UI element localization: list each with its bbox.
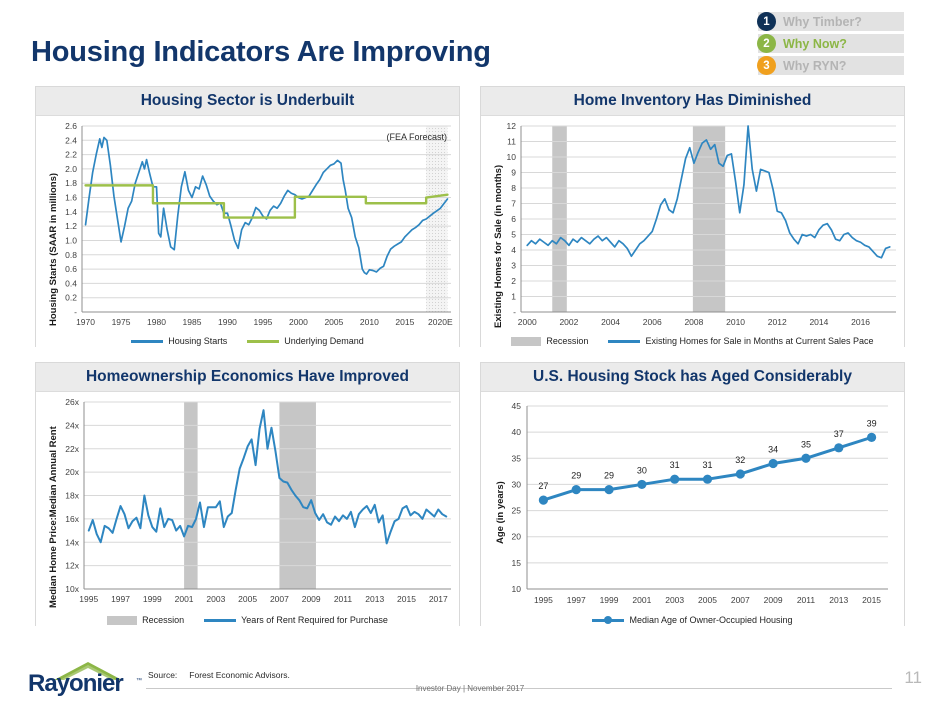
svg-text:2005: 2005	[698, 595, 717, 605]
svg-text:1975: 1975	[112, 317, 131, 327]
svg-text:2013: 2013	[365, 594, 384, 604]
svg-text:9: 9	[511, 168, 516, 178]
nav-label-why-ryn: Why RYN?	[783, 59, 846, 73]
svg-text:2016: 2016	[851, 317, 870, 327]
legend-label-existing-homes: Existing Homes for Sale in Months at Cur…	[645, 336, 873, 346]
svg-text:2013: 2013	[829, 595, 848, 605]
svg-text:31: 31	[702, 460, 712, 470]
section-nav: 1 Why Timber? 2 Why Now? 3 Why RYN?	[758, 12, 904, 78]
nav-badge-1: 1	[757, 12, 776, 31]
svg-text:1995: 1995	[79, 594, 98, 604]
chart-legend-underbuilt: Housing Starts Underlying Demand	[36, 336, 459, 346]
svg-text:2006: 2006	[643, 317, 662, 327]
svg-text:0.8: 0.8	[65, 250, 77, 260]
line-swatch-icon	[204, 619, 236, 622]
legend-label-recession: Recession	[142, 615, 184, 625]
chart-title-homeownership: Homeownership Economics Have Improved	[86, 368, 409, 386]
svg-text:2009: 2009	[764, 595, 783, 605]
svg-text:1999: 1999	[143, 594, 162, 604]
legend-label-years-of-rent: Years of Rent Required for Purchase	[241, 615, 388, 625]
svg-text:1995: 1995	[253, 317, 272, 327]
line-swatch-icon	[608, 340, 640, 343]
band-swatch-icon	[511, 337, 541, 346]
svg-text:1990: 1990	[218, 317, 237, 327]
svg-text:-: -	[513, 307, 516, 317]
chart-body-inventory: Existing Homes for Sale (in months) -123…	[481, 116, 904, 348]
svg-text:1980: 1980	[147, 317, 166, 327]
legend-item-housing-starts[interactable]: Housing Starts	[131, 336, 227, 346]
chart-body-homeownership: Median Home Price:Median Annual Rent 10x…	[36, 392, 459, 627]
nav-badge-2: 2	[757, 34, 776, 53]
svg-text:37: 37	[834, 429, 844, 439]
chart-legend-housing-stock: Median Age of Owner-Occupied Housing	[481, 615, 904, 625]
legend-label-median-age: Median Age of Owner-Occupied Housing	[629, 615, 792, 625]
svg-text:2015: 2015	[397, 594, 416, 604]
chart-canvas-inventory: -123456789101112200020022004200620082010…	[481, 116, 906, 348]
chart-header-inventory: Home Inventory Has Diminished	[481, 87, 904, 116]
chart-legend-inventory: Recession Existing Homes for Sale in Mon…	[481, 336, 904, 346]
svg-text:1970: 1970	[76, 317, 95, 327]
svg-text:0.6: 0.6	[65, 264, 77, 274]
svg-text:10: 10	[507, 152, 517, 162]
svg-text:2003: 2003	[206, 594, 225, 604]
line-swatch-icon	[131, 340, 163, 343]
chart-canvas-housing-stock: 1015202530354045271995291997291999302001…	[481, 392, 906, 627]
svg-text:2015: 2015	[862, 595, 881, 605]
chart-canvas-homeownership: 10x12x14x16x18x20x22x24x26x1995199719992…	[36, 392, 461, 627]
chart-header-housing-stock: U.S. Housing Stock has Aged Considerably	[481, 363, 904, 392]
legend-label-underlying-demand: Underlying Demand	[284, 336, 364, 346]
svg-text:2005: 2005	[238, 594, 257, 604]
svg-text:18x: 18x	[65, 491, 79, 501]
nav-item-why-timber[interactable]: 1 Why Timber?	[758, 12, 904, 31]
svg-text:3: 3	[511, 261, 516, 271]
band-swatch-icon	[107, 616, 137, 625]
svg-text:0.2: 0.2	[65, 293, 77, 303]
chart-title-underbuilt: Housing Sector is Underbuilt	[141, 92, 355, 110]
svg-text:2.0: 2.0	[65, 164, 77, 174]
forecast-annotation: (FEA Forecast)	[386, 132, 447, 142]
svg-text:8: 8	[511, 183, 516, 193]
svg-text:40: 40	[512, 427, 522, 437]
chart-body-underbuilt: Housing Starts (SAAR in millions) -0.20.…	[36, 116, 459, 348]
chart-header-underbuilt: Housing Sector is Underbuilt	[36, 87, 459, 116]
svg-text:32: 32	[735, 455, 745, 465]
svg-text:2011: 2011	[334, 594, 353, 604]
marker-line-swatch-icon	[592, 619, 624, 622]
svg-text:2.6: 2.6	[65, 121, 77, 131]
nav-label-why-timber: Why Timber?	[783, 15, 862, 29]
nav-item-why-now[interactable]: 2 Why Now?	[758, 34, 904, 53]
slide-root: Housing Indicators Are Improving 1 Why T…	[0, 0, 940, 705]
svg-text:1: 1	[511, 292, 516, 302]
svg-text:6: 6	[511, 214, 516, 224]
svg-text:45: 45	[512, 401, 522, 411]
svg-text:30: 30	[512, 479, 522, 489]
svg-text:25: 25	[512, 506, 522, 516]
svg-text:2010: 2010	[360, 317, 379, 327]
svg-text:2.2: 2.2	[65, 150, 77, 160]
svg-text:29: 29	[604, 471, 614, 481]
svg-text:2005: 2005	[324, 317, 343, 327]
svg-text:11: 11	[507, 137, 516, 147]
legend-item-existing-homes[interactable]: Existing Homes for Sale in Months at Cur…	[608, 336, 873, 346]
svg-text:2007: 2007	[731, 595, 750, 605]
page-title: Housing Indicators Are Improving	[31, 36, 491, 69]
svg-text:14x: 14x	[65, 537, 79, 547]
legend-item-recession[interactable]: Recession	[107, 615, 184, 625]
chart-canvas-underbuilt: -0.20.40.60.81.01.21.41.61.82.02.22.42.6…	[36, 116, 461, 348]
nav-badge-3: 3	[757, 56, 776, 75]
svg-text:27: 27	[538, 481, 548, 491]
svg-text:2012: 2012	[768, 317, 787, 327]
svg-text:1999: 1999	[600, 595, 619, 605]
svg-text:1.8: 1.8	[65, 178, 77, 188]
chart-body-housing-stock: Age (in years) 1015202530354045271995291…	[481, 392, 904, 627]
page-number: 11	[904, 668, 922, 688]
legend-label-recession: Recession	[546, 336, 588, 346]
svg-text:2011: 2011	[797, 595, 816, 605]
chart-panel-inventory: Home Inventory Has Diminished Existing H…	[480, 86, 905, 347]
svg-text:2008: 2008	[684, 317, 703, 327]
nav-item-why-ryn[interactable]: 3 Why RYN?	[758, 56, 904, 75]
svg-text:2020E: 2020E	[428, 317, 453, 327]
chart-legend-homeownership: Recession Years of Rent Required for Pur…	[36, 615, 459, 625]
svg-text:1.4: 1.4	[65, 207, 77, 217]
svg-text:5: 5	[511, 230, 516, 240]
svg-text:20x: 20x	[65, 467, 79, 477]
chart-panel-underbuilt: Housing Sector is Underbuilt Housing Sta…	[35, 86, 460, 347]
legend-item-underlying-demand[interactable]: Underlying Demand	[247, 336, 364, 346]
svg-text:1997: 1997	[111, 594, 130, 604]
svg-text:2004: 2004	[601, 317, 620, 327]
svg-text:2014: 2014	[809, 317, 828, 327]
svg-text:2002: 2002	[559, 317, 578, 327]
svg-text:2000: 2000	[289, 317, 308, 327]
svg-text:24x: 24x	[65, 420, 79, 430]
svg-text:1.6: 1.6	[65, 193, 77, 203]
svg-text:26x: 26x	[65, 397, 79, 407]
svg-text:2001: 2001	[175, 594, 194, 604]
source-label: Source:	[148, 670, 177, 680]
line-swatch-icon	[247, 340, 279, 343]
svg-text:39: 39	[867, 418, 877, 428]
footer-deck-info: Investor Day | November 2017	[0, 684, 940, 693]
svg-text:2000: 2000	[518, 317, 537, 327]
svg-text:2009: 2009	[302, 594, 321, 604]
svg-text:2: 2	[511, 276, 516, 286]
svg-text:16x: 16x	[65, 514, 79, 524]
chart-panel-homeownership: Homeownership Economics Have Improved Me…	[35, 362, 460, 626]
svg-text:2010: 2010	[726, 317, 745, 327]
svg-text:22x: 22x	[65, 444, 79, 454]
svg-text:20: 20	[512, 532, 522, 542]
svg-text:12x: 12x	[65, 561, 79, 571]
svg-text:34: 34	[768, 445, 778, 455]
svg-text:2007: 2007	[270, 594, 289, 604]
legend-item-recession[interactable]: Recession	[511, 336, 588, 346]
svg-text:1985: 1985	[183, 317, 202, 327]
svg-text:4: 4	[511, 245, 516, 255]
legend-item-median-age[interactable]: Median Age of Owner-Occupied Housing	[592, 615, 792, 625]
svg-text:35: 35	[801, 439, 811, 449]
svg-text:2015: 2015	[395, 317, 414, 327]
svg-text:30: 30	[637, 465, 647, 475]
svg-text:10: 10	[512, 584, 522, 594]
svg-text:10x: 10x	[65, 584, 79, 594]
svg-text:2001: 2001	[632, 595, 651, 605]
source-value: Forest Economic Advisors.	[189, 670, 290, 680]
source-note: Source:Forest Economic Advisors.	[148, 670, 290, 680]
svg-text:12: 12	[507, 121, 517, 131]
chart-header-homeownership: Homeownership Economics Have Improved	[36, 363, 459, 392]
chart-title-inventory: Home Inventory Has Diminished	[574, 92, 812, 110]
svg-text:0.4: 0.4	[65, 278, 77, 288]
chart-panel-housing-stock: U.S. Housing Stock has Aged Considerably…	[480, 362, 905, 626]
svg-text:1995: 1995	[534, 595, 553, 605]
svg-text:35: 35	[512, 453, 522, 463]
svg-text:31: 31	[670, 460, 680, 470]
svg-text:2017: 2017	[429, 594, 448, 604]
svg-text:29: 29	[571, 471, 581, 481]
chart-title-housing-stock: U.S. Housing Stock has Aged Considerably	[533, 368, 852, 386]
svg-text:2.4: 2.4	[65, 135, 77, 145]
svg-text:-: -	[74, 307, 77, 317]
svg-text:2003: 2003	[665, 595, 684, 605]
svg-text:1.0: 1.0	[65, 235, 77, 245]
nav-label-why-now: Why Now?	[783, 37, 847, 51]
svg-text:1997: 1997	[567, 595, 586, 605]
svg-text:7: 7	[511, 199, 516, 209]
svg-text:1.2: 1.2	[65, 221, 77, 231]
legend-item-years-of-rent[interactable]: Years of Rent Required for Purchase	[204, 615, 388, 625]
svg-text:15: 15	[512, 558, 522, 568]
legend-label-housing-starts: Housing Starts	[168, 336, 227, 346]
